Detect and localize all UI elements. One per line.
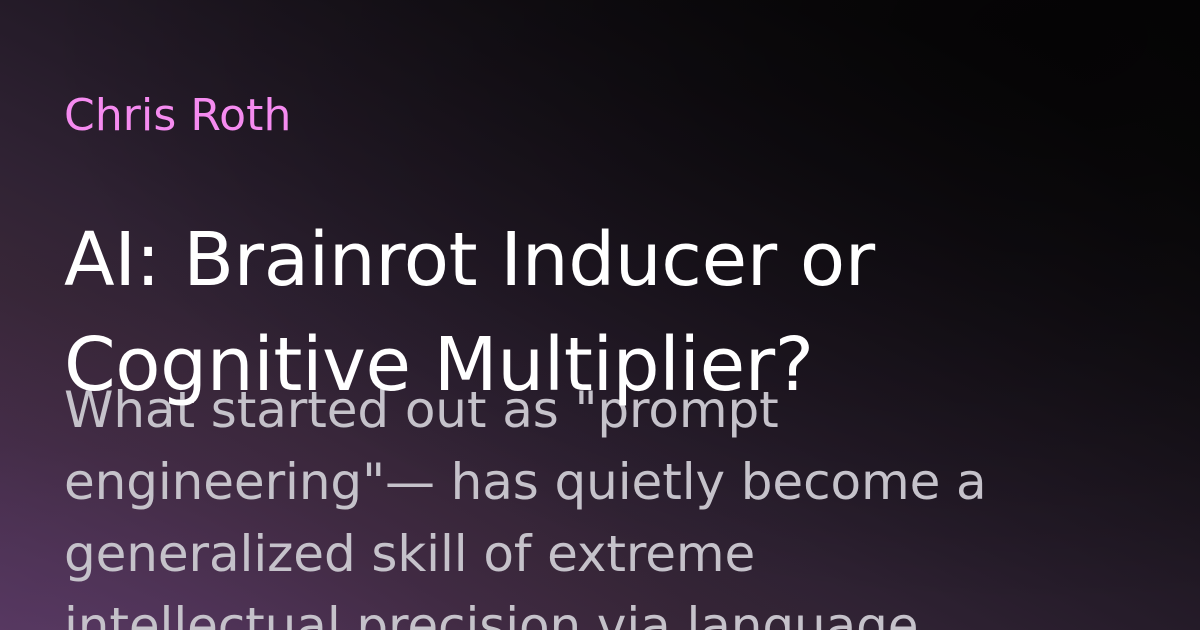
article-preview-card: Chris Roth AI: Brainrot Inducer or Cogni… xyxy=(0,0,1200,630)
article-title: AI: Brainrot Inducer or Cognitive Multip… xyxy=(64,208,1074,418)
author-name: Chris Roth xyxy=(64,92,292,140)
card-content: Chris Roth AI: Brainrot Inducer or Cogni… xyxy=(0,0,1200,630)
